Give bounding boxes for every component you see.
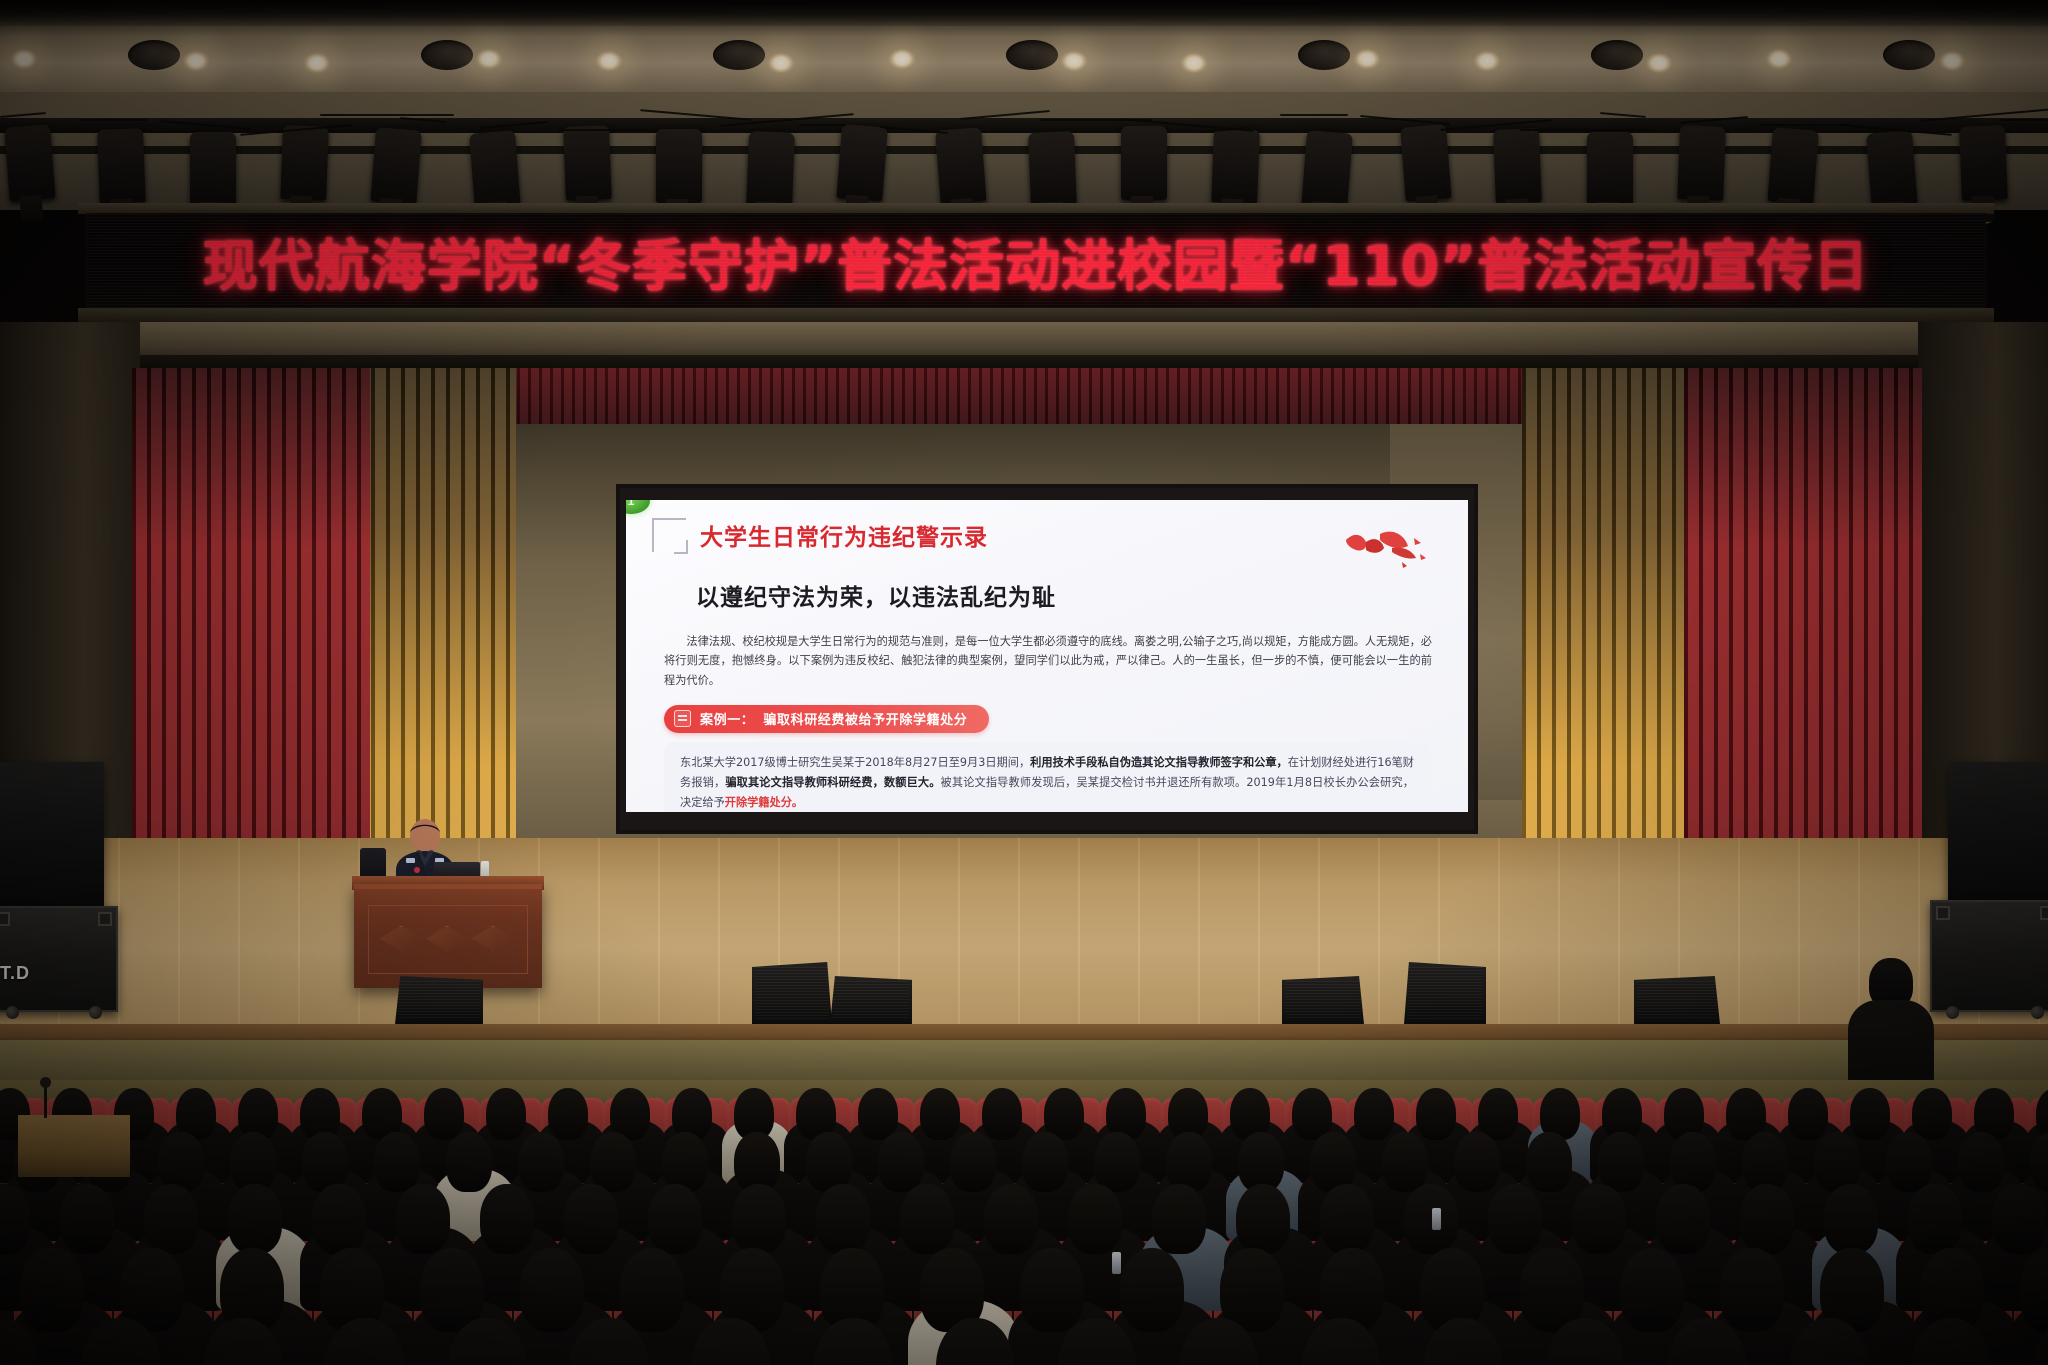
ceiling-recessed-can xyxy=(1006,40,1058,70)
audience-member-head xyxy=(1620,1248,1684,1332)
ceiling-downlight xyxy=(1060,50,1088,72)
slide-number-badge: 1 xyxy=(626,500,650,514)
ceiling-recessed-can xyxy=(1591,40,1643,70)
audience-member-head xyxy=(648,1184,702,1254)
stage-light-fixture xyxy=(190,132,236,206)
audience-member-head xyxy=(1310,1132,1356,1192)
audience-member-head xyxy=(1992,1184,2046,1254)
audience-member-head xyxy=(518,1132,564,1192)
audience-member-head xyxy=(982,1088,1022,1140)
stage-light-fixture xyxy=(1400,124,1452,201)
ceiling-recessed-can xyxy=(713,40,765,70)
audience-member-head xyxy=(1958,1132,2004,1192)
audience-member-head xyxy=(900,1184,954,1254)
speaker-stack-left xyxy=(0,762,104,912)
doves-icon xyxy=(1336,524,1432,576)
truss-cable xyxy=(80,119,148,121)
audience-member-head xyxy=(1354,1088,1394,1140)
audience-member-head xyxy=(1742,1132,1788,1192)
truss-cable xyxy=(320,114,454,116)
truss-cable xyxy=(800,124,846,126)
speaker-grille xyxy=(398,981,480,1019)
stage-light-fixture xyxy=(1677,125,1726,201)
truss-cable xyxy=(2000,119,2046,121)
case-body-segment: 利用技术手段私自伪造其论文指导教师签字和公章， xyxy=(1030,756,1288,769)
stage-light-fixture xyxy=(1866,130,1918,207)
audience-member-head xyxy=(564,1184,618,1254)
audience-member-head xyxy=(230,1132,276,1192)
audience-member-head xyxy=(590,1132,636,1192)
ceiling-shadow xyxy=(0,0,2048,26)
audience-member-head xyxy=(1720,1248,1784,1332)
flight-case-left: T.D xyxy=(0,906,118,1012)
podium-desk xyxy=(354,884,542,988)
stage-light-fixture xyxy=(1959,125,2008,201)
stage-light-fixture xyxy=(4,124,56,201)
audience-member-head xyxy=(1094,1132,1140,1192)
audience-member-head xyxy=(60,1184,114,1254)
stage-light-fixture xyxy=(656,129,702,203)
audience-member-head xyxy=(1572,1184,1626,1254)
case-label-text: T.D xyxy=(0,963,30,984)
audience-member-head xyxy=(1850,1088,1890,1140)
ceiling-recessed-can xyxy=(421,40,473,70)
stage-monitor-speaker xyxy=(752,962,832,1024)
audience-member-head xyxy=(396,1184,450,1254)
audience-member-head xyxy=(1166,1132,1212,1192)
stage-light-fixture xyxy=(1587,132,1633,206)
stage-light-fixture xyxy=(1767,127,1819,204)
case-body-segment: 东北某大学2017级博士研究生吴某于2018年8月27日至9月3日期间， xyxy=(680,756,1030,769)
case-body-segment: 骗取其论文指导教师科研经费，数额巨大。 xyxy=(725,776,940,789)
audience-water-bottle xyxy=(1112,1252,1121,1274)
truss-cable xyxy=(1280,114,1348,116)
audience-member-head xyxy=(548,1088,588,1140)
case-corner xyxy=(98,912,112,926)
audience-member-head xyxy=(312,1184,366,1254)
side-lectern-microphone xyxy=(44,1084,47,1118)
audience-member-head xyxy=(806,1132,852,1192)
audience-member-head xyxy=(20,1248,84,1332)
case-body-segment: 开除学籍处分。 xyxy=(725,796,803,809)
audience-member-head xyxy=(486,1088,526,1140)
audience-member-head xyxy=(1404,1184,1458,1254)
banner-text: 现代航海学院“冬季守护”普法活动进校园暨“110”普法活动宣传日 xyxy=(203,221,1869,301)
truss-cable xyxy=(1520,129,1654,131)
led-banner: 现代航海学院“冬季守护”普法活动进校园暨“110”普法活动宣传日 xyxy=(86,213,1986,309)
audience-member-head xyxy=(1814,1132,1860,1192)
ceiling-downlight xyxy=(475,48,503,70)
audience-member-head xyxy=(228,1184,282,1254)
ceiling-downlight xyxy=(10,48,38,70)
audience-member-head xyxy=(1908,1184,1962,1254)
case-title: 骗取科研经费被给予开除学籍处分 xyxy=(763,709,967,728)
ceiling-downlight xyxy=(303,52,331,74)
stage-light-fixture xyxy=(1211,128,1260,204)
audience-member-head xyxy=(1236,1184,1290,1254)
truss-cable xyxy=(1760,124,1850,126)
audience-member-head xyxy=(620,1248,684,1332)
audience-member-head xyxy=(1788,1088,1828,1140)
audience-member-head xyxy=(920,1088,960,1140)
ceiling-recessed-can xyxy=(128,40,180,70)
audience-member-head xyxy=(1020,1248,1084,1332)
case-corner xyxy=(0,912,10,926)
audience-member-head xyxy=(1886,1132,1932,1192)
stage-light-fixture xyxy=(1493,128,1542,204)
ceiling-downlight xyxy=(888,48,916,70)
audience-member-head xyxy=(1382,1132,1428,1192)
case-caster xyxy=(89,1006,102,1019)
audience-member-head xyxy=(1824,1184,1878,1254)
case-caster xyxy=(6,1006,19,1019)
audience-member-head xyxy=(1454,1132,1500,1192)
audience-member-head xyxy=(1670,1132,1716,1192)
audience-member-head xyxy=(520,1248,584,1332)
stage-light-fixture xyxy=(470,130,522,207)
audience-member-head xyxy=(858,1088,898,1140)
stage-light-fixture xyxy=(371,127,423,204)
ceiling-downlight xyxy=(1473,50,1501,72)
audience-member-head xyxy=(1068,1184,1122,1254)
slide-title: 大学生日常行为违纪警示录 xyxy=(700,518,988,552)
stage-monitor-speaker xyxy=(395,976,483,1024)
bracket-icon xyxy=(652,518,686,552)
audience-member-head xyxy=(1152,1184,1206,1254)
ceiling-downlight xyxy=(1645,52,1673,74)
document-icon xyxy=(674,710,691,727)
stage-monitor-speaker xyxy=(830,976,912,1024)
case-label: 案例一： xyxy=(700,709,754,728)
audience-member-head xyxy=(1656,1184,1710,1254)
slide-subtitle: 以遵纪守法为荣，以违法乱纪为耻 xyxy=(696,578,1442,612)
stage-monitor-speaker xyxy=(1404,962,1486,1024)
speaker-grille xyxy=(1407,967,1483,1019)
audience-member-head xyxy=(1416,1088,1456,1140)
audience-member-head xyxy=(1740,1184,1794,1254)
case-pill: 案例一： 骗取科研经费被给予开除学籍处分 xyxy=(664,705,989,733)
stage-light-fixture xyxy=(97,128,146,204)
banner-frame-bottom xyxy=(78,308,1994,322)
slide-title-row: 大学生日常行为违纪警示录 xyxy=(652,518,1442,552)
speaker-grille xyxy=(833,981,909,1019)
stage-light-fixture xyxy=(280,125,329,201)
audience-member-head xyxy=(950,1132,996,1192)
case-caster xyxy=(1946,1006,1959,1019)
side-lectern xyxy=(18,1115,130,1177)
audience-member-head xyxy=(158,1132,204,1192)
stage-light-fixture xyxy=(1302,130,1354,207)
audience-member-head xyxy=(1526,1132,1572,1192)
audience-member-head xyxy=(446,1132,492,1192)
audience-member-head xyxy=(480,1184,534,1254)
stage-light-fixture xyxy=(935,127,987,204)
auditorium-scene: 现代航海学院“冬季守护”普法活动进校园暨“110”普法活动宣传日 1 大学生日常… xyxy=(0,0,2048,1365)
presentation-slide: 1 大学生日常行为违纪警示录 以遵纪守法为荣，以违法乱纪为耻 法律法规、校纪校规… xyxy=(626,500,1468,812)
audience-member-head xyxy=(1120,1248,1184,1332)
speaker-grille xyxy=(1285,981,1361,1019)
audience-member-head xyxy=(816,1184,870,1254)
audience-member-head xyxy=(984,1184,1038,1254)
audience-member-head xyxy=(1488,1184,1542,1254)
stage-monitor-speaker xyxy=(1282,976,1364,1024)
audience-member-head xyxy=(878,1132,924,1192)
audience-member-head xyxy=(302,1132,348,1192)
stage-monitor-speaker xyxy=(1634,976,1720,1024)
stage-light-fixture xyxy=(746,131,795,207)
audience-member-head xyxy=(424,1088,464,1140)
case-corner xyxy=(1936,906,1950,920)
flight-case-right xyxy=(1930,900,2048,1012)
speaker-stack-right xyxy=(1948,762,2048,908)
audience-water-bottle xyxy=(1432,1208,1441,1230)
audience-member-head xyxy=(662,1132,708,1192)
stage-light-fixture xyxy=(1028,131,1077,207)
case-detail-box: 东北某大学2017级博士研究生吴某于2018年8月27日至9月3日期间，利用技术… xyxy=(664,742,1430,812)
speaker-grille xyxy=(755,967,829,1019)
ceiling-downlight xyxy=(595,50,623,72)
speaker-grille xyxy=(1637,981,1717,1019)
case-caster xyxy=(2031,1006,2044,1019)
stage-light-fixture xyxy=(836,124,888,201)
ceiling-recessed-can xyxy=(1298,40,1350,70)
audience-member-head xyxy=(1238,1132,1284,1192)
audience-member-head xyxy=(1912,1088,1952,1140)
audience-member-head xyxy=(1022,1132,1068,1192)
stage-floor xyxy=(0,838,2048,1038)
audience-member-head xyxy=(734,1132,780,1192)
audience-member-head xyxy=(732,1184,786,1254)
ceiling-downlight xyxy=(1353,48,1381,70)
case-body-text: 东北某大学2017级博士研究生吴某于2018年8月27日至9月3日期间，利用技术… xyxy=(680,756,1414,809)
truss-cable xyxy=(560,129,650,131)
slide-body-paragraph: 法律法规、校纪校规是大学生日常行为的规范与准则，是每一位大学生都必须遵守的底线。… xyxy=(664,632,1432,690)
audience-member-head xyxy=(374,1132,420,1192)
audience-member-head xyxy=(144,1184,198,1254)
case-corner xyxy=(2040,906,2048,920)
audience-area xyxy=(0,1080,2048,1365)
stage-light-fixture xyxy=(1121,126,1167,200)
audience-member-head xyxy=(1320,1184,1374,1254)
stage-light-fixture xyxy=(563,125,612,201)
ceiling-downlight xyxy=(1938,50,1966,72)
audience-member-head xyxy=(1598,1132,1644,1192)
